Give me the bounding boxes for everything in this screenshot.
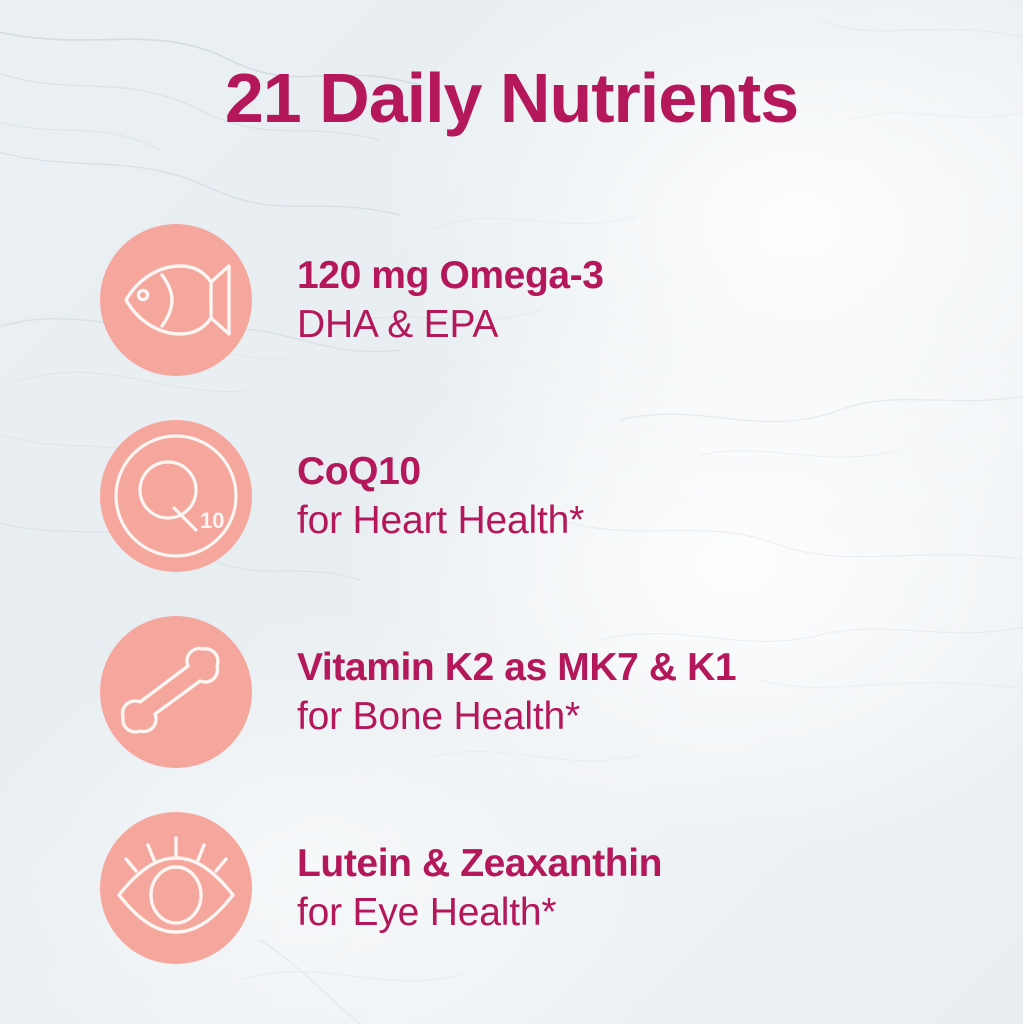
list-item-title: 120 mg Omega-3 [297, 253, 604, 298]
nutrient-list: 120 mg Omega-3 DHA & EPA 10 CoQ10 for He… [0, 202, 1023, 986]
list-item-text: Lutein & Zeaxanthin for Eye Health* [297, 841, 662, 934]
list-item: 10 CoQ10 for Heart Health* [0, 398, 1023, 594]
eye-icon [113, 825, 239, 951]
list-item-title: Lutein & Zeaxanthin [297, 841, 662, 886]
list-item: Lutein & Zeaxanthin for Eye Health* [0, 790, 1023, 986]
list-item-title: CoQ10 [297, 449, 584, 494]
list-item-subtitle: DHA & EPA [297, 302, 604, 347]
coq10-subscript: 10 [200, 508, 224, 533]
list-item-subtitle: for Bone Health* [297, 694, 736, 739]
list-item-text: 120 mg Omega-3 DHA & EPA [297, 253, 604, 346]
list-item: Vitamin K2 as MK7 & K1 for Bone Health* [0, 594, 1023, 790]
list-item-text: Vitamin K2 as MK7 & K1 for Bone Health* [297, 645, 736, 738]
bone-icon-circle [100, 616, 252, 768]
nutrients-infographic: 21 Daily Nutrients 120 mg Omega-3 DHA & … [0, 0, 1023, 1024]
list-item-title: Vitamin K2 as MK7 & K1 [297, 645, 736, 690]
list-item-text: CoQ10 for Heart Health* [297, 449, 584, 542]
bone-icon [115, 631, 237, 753]
coq10-icon: 10 [112, 432, 240, 560]
list-item-subtitle: for Eye Health* [297, 890, 662, 935]
list-item-subtitle: for Heart Health* [297, 498, 584, 543]
fish-icon-circle [100, 224, 252, 376]
fish-icon [116, 240, 236, 360]
coq10-icon-circle: 10 [100, 420, 252, 572]
list-item: 120 mg Omega-3 DHA & EPA [0, 202, 1023, 398]
page-title: 21 Daily Nutrients [0, 62, 1023, 136]
eye-icon-circle [100, 812, 252, 964]
